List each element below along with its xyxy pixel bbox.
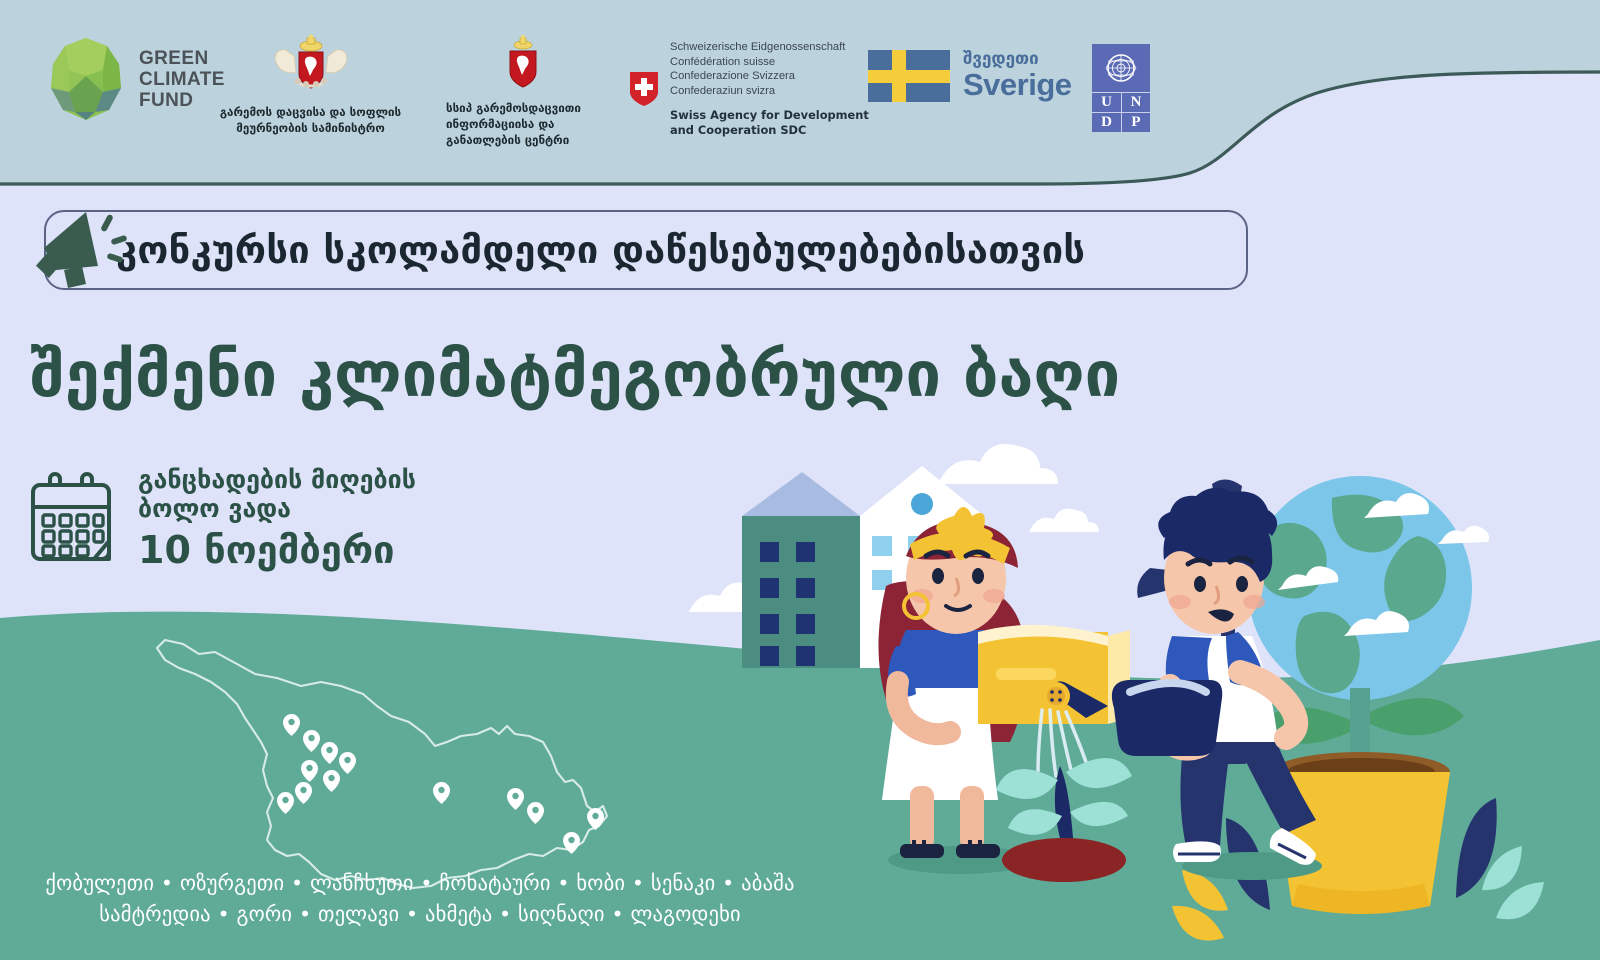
undp-letters: U N D P	[1092, 92, 1150, 132]
poster-canvas: GREEN CLIMATE FUND გარემოს დაცვისა და სო…	[0, 0, 1600, 960]
sdc-line-it: Confederazione Svizzera	[670, 69, 869, 84]
georgia-small-shield-icon	[500, 34, 546, 94]
partner-logos: GREEN CLIMATE FUND გარემოს დაცვისა და სო…	[0, 0, 1240, 185]
georgia-map	[95, 630, 655, 900]
cenn-wordmark: სსიპ გარემოსდაცვითი ინფორმაციისა და განა…	[428, 100, 618, 148]
sdc-line-de: Schweizerische Eidgenossenschaft	[670, 40, 869, 55]
logo-environmental-info-education-centre: სსიპ გარემოსდაცვითი ინფორმაციისა და განა…	[428, 34, 618, 148]
logo-undp: U N D P	[1092, 44, 1150, 132]
georgia-map-outline	[95, 630, 655, 900]
undp-letter-u: U	[1092, 92, 1121, 112]
gcf-line-3: FUND	[139, 90, 225, 111]
map-pin	[339, 752, 356, 774]
undp-letter-n: N	[1121, 92, 1150, 112]
map-pin	[301, 760, 318, 782]
map-pin	[433, 782, 450, 804]
calendar-icon	[24, 471, 118, 567]
cenn-line-3: განათლების ცენტრი	[446, 132, 618, 148]
logo-green-climate-fund: GREEN CLIMATE FUND	[45, 36, 225, 122]
megaphone-icon	[20, 196, 130, 292]
sdc-line-rm: Confederaziun svizra	[670, 84, 869, 99]
cenn-line-1: სსიპ გარემოსდაცვითი	[446, 100, 618, 116]
ministry-line-2: მეურნეობის სამინისტრო	[213, 120, 408, 136]
sweden-wordmark: შვედეთი Sverige	[963, 50, 1072, 102]
sdc-agency-line-1: Swiss Agency for Development	[670, 108, 869, 123]
map-pin	[277, 792, 294, 814]
map-pin	[563, 832, 580, 854]
deadline-date: 10 ნოემბერი	[138, 527, 416, 573]
announcement-banner: კონკურსი სკოლამდელი დაწესებულებებისათვის	[44, 210, 1248, 290]
map-pin	[323, 770, 340, 792]
map-pin	[303, 730, 320, 752]
gcf-globe-icon	[45, 36, 127, 122]
logo-sweden: შვედეთი Sverige	[868, 50, 1072, 102]
undp-letter-p: P	[1121, 112, 1150, 132]
deadline-block: განცხადების მიღების ბოლო ვადა 10 ნოემბერ…	[24, 465, 416, 573]
sweden-label-ka: შვედეთი	[963, 50, 1072, 68]
map-pin	[283, 714, 300, 736]
cenn-line-2: ინფორმაციისა და	[446, 116, 618, 132]
gcf-line-1: GREEN	[139, 48, 225, 69]
map-pin	[321, 742, 338, 764]
logo-ministry-of-environment: გარემოს დაცვისა და სოფლის მეურნეობის სამ…	[213, 34, 408, 136]
illustration-kids-planting	[660, 420, 1600, 960]
ministry-wordmark: გარემოს დაცვისა და სოფლის მეურნეობის სამ…	[213, 104, 408, 136]
georgia-coat-of-arms-icon	[268, 34, 354, 96]
gcf-wordmark: GREEN CLIMATE FUND	[139, 48, 225, 111]
seedling	[996, 758, 1132, 882]
ministry-line-1: გარემოს დაცვისა და სოფლის	[213, 104, 408, 120]
deadline-label-line-2: ბოლო ვადა	[138, 494, 416, 523]
map-pin	[587, 808, 604, 830]
announcement-text: კონკურსი სკოლამდელი დაწესებულებებისათვის	[116, 228, 1085, 272]
sdc-wordmark: Schweizerische Eidgenossenschaft Confédé…	[670, 40, 869, 138]
swiss-shield-icon	[628, 70, 660, 108]
map-pin	[507, 788, 524, 810]
gcf-line-2: CLIMATE	[139, 69, 225, 90]
undp-letter-d: D	[1092, 112, 1121, 132]
un-emblem-icon	[1092, 44, 1150, 91]
sdc-agency-line-2: and Cooperation SDC	[670, 123, 869, 138]
logo-swiss-sdc: Schweizerische Eidgenossenschaft Confédé…	[628, 40, 869, 138]
sweden-label-latin: Sverige	[963, 68, 1072, 102]
map-pin	[527, 802, 544, 824]
sdc-line-fr: Confédération suisse	[670, 55, 869, 70]
sweden-flag-icon	[868, 50, 950, 102]
deadline-label-line-1: განცხადების მიღების	[138, 465, 416, 494]
apartment-building	[742, 472, 860, 668]
deadline-text: განცხადების მიღების ბოლო ვადა 10 ნოემბერ…	[138, 465, 416, 573]
page-title: შექმენი კლიმატმეგობრული ბაღი	[30, 338, 1120, 411]
map-pin	[295, 782, 312, 804]
